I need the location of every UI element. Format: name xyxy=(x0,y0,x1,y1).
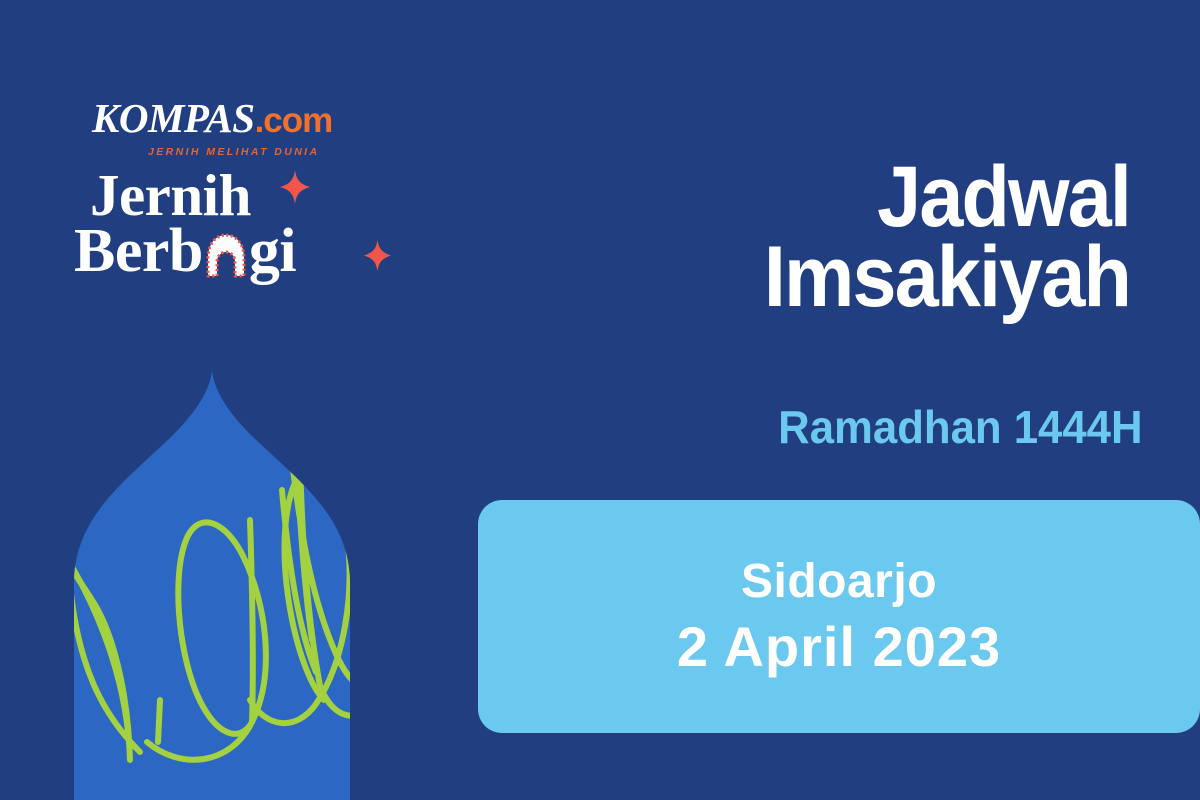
headline-subtitle: Ramadhan 1444H xyxy=(778,400,1142,454)
kompas-wordmark: KOMPAS.com xyxy=(92,96,432,143)
jernih-berbagi-line-2-prefix: Berb xyxy=(74,217,203,285)
location-date: 2 April 2023 xyxy=(677,615,1001,679)
jernih-berbagi-lockup: Jernih Berb gi xyxy=(74,168,404,308)
jernih-berbagi-line-2-suffix: gi xyxy=(249,217,296,285)
green-scribble-group xyxy=(68,454,408,760)
mosque-arch-letter-a-icon xyxy=(204,230,248,276)
headline-line-2: Imsakiyah xyxy=(541,238,1130,318)
kompas-wordmark-main: KOMPAS xyxy=(92,95,255,141)
jernih-berbagi-line-1: Jernih xyxy=(90,168,404,223)
headline-line-1: Jadwal xyxy=(541,158,1130,238)
kompas-wordmark-dotcom: .com xyxy=(255,101,333,140)
imsakiyah-schedule-poster: KOMPAS.com JERNIH MELIHAT DUNIA Jernih B… xyxy=(0,0,1200,800)
mosque-arch-shape xyxy=(74,370,350,800)
kompas-logo[interactable]: KOMPAS.com JERNIH MELIHAT DUNIA xyxy=(92,96,432,160)
location-date-card: Sidoarjo 2 April 2023 xyxy=(478,500,1200,733)
poster-headline: Jadwal Imsakiyah xyxy=(490,158,1130,318)
jernih-berbagi-line-2: Berb gi xyxy=(74,223,404,281)
location-city: Sidoarjo xyxy=(741,554,937,609)
kompas-tagline: JERNIH MELIHAT DUNIA xyxy=(148,146,432,158)
